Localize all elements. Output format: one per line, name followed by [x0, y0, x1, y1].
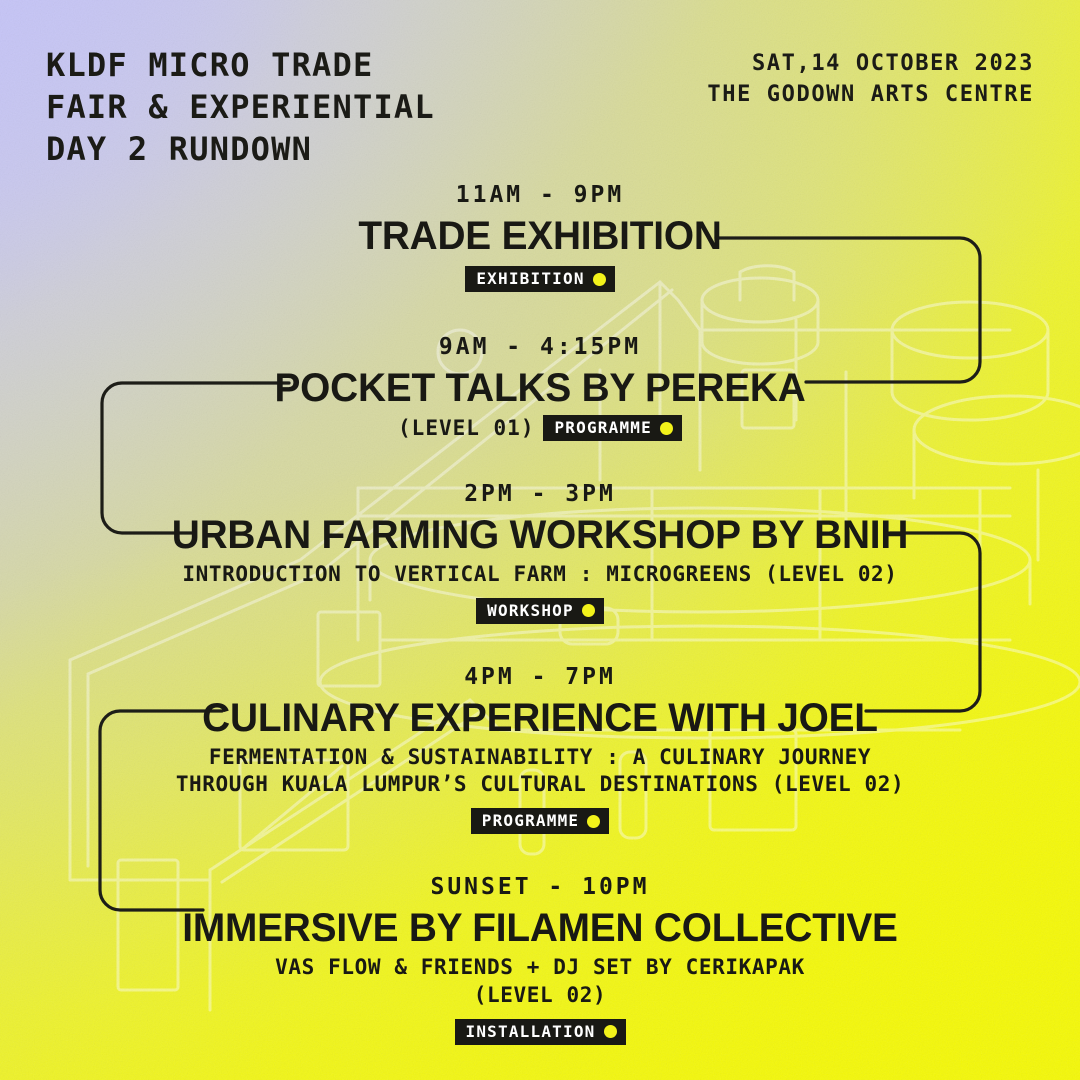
badge-dot-icon [587, 815, 600, 828]
event-title: URBAN FARMING WORKSHOP BY BNIH [16, 514, 1064, 556]
schedule-item-trade-exhibition: 11AM - 9PM TRADE EXHIBITION EXHIBITION [0, 182, 1080, 292]
schedule-item-urban-farming: 2PM - 3PM URBAN FARMING WORKSHOP BY BNIH… [0, 481, 1080, 624]
event-subtitle: VAS FLOW & FRIENDS + DJ SET BY CERIKAPAK… [0, 954, 1080, 1009]
badge-dot-icon [660, 422, 673, 435]
poster-header: KLDF MICRO TRADE FAIR & EXPERIENTIAL DAY… [0, 0, 1080, 171]
schedule-item-pocket-talks: 9AM - 4:15PM POCKET TALKS BY PEREKA (LEV… [0, 334, 1080, 441]
badge-label: WORKSHOP [487, 603, 574, 619]
poster-canvas: KLDF MICRO TRADE FAIR & EXPERIENTIAL DAY… [0, 0, 1080, 1080]
event-title: POCKET TALKS BY PEREKA [16, 367, 1064, 409]
badge-dot-icon [582, 604, 595, 617]
schedule-item-immersive: SUNSET - 10PM IMMERSIVE BY FILAMEN COLLE… [0, 874, 1080, 1044]
event-time: 9AM - 4:15PM [0, 334, 1080, 360]
event-title: CULINARY EXPERIENCE WITH JOEL [16, 697, 1064, 739]
event-date: SAT,14 OCTOBER 2023 [707, 48, 1034, 79]
event-time: 2PM - 3PM [0, 481, 1080, 507]
badge-dot-icon [604, 1025, 617, 1038]
event-meta: SAT,14 OCTOBER 2023 THE GODOWN ARTS CENT… [707, 44, 1034, 110]
event-level-note: (LEVEL 01) [398, 416, 534, 440]
badge-label: INSTALLATION [466, 1024, 596, 1040]
event-title: TRADE EXHIBITION [16, 215, 1064, 257]
schedule-item-culinary-experience: 4PM - 7PM CULINARY EXPERIENCE WITH JOEL … [0, 664, 1080, 834]
badge-dot-icon [593, 273, 606, 286]
status-badge-programme: PROGRAMME [471, 808, 610, 834]
event-subtitle: INTRODUCTION TO VERTICAL FARM : MICROGRE… [0, 561, 1080, 589]
event-time: 4PM - 7PM [0, 664, 1080, 690]
badge-label: PROGRAMME [482, 813, 580, 829]
event-venue: THE GODOWN ARTS CENTRE [707, 79, 1034, 110]
event-subtitle: FERMENTATION & SUSTAINABILITY : A CULINA… [0, 744, 1080, 799]
event-time: 11AM - 9PM [0, 182, 1080, 208]
event-title: IMMERSIVE BY FILAMEN COLLECTIVE [16, 907, 1064, 949]
status-badge-workshop: WORKSHOP [476, 598, 604, 624]
event-time: SUNSET - 10PM [0, 874, 1080, 900]
status-badge-programme: PROGRAMME [543, 415, 682, 441]
badge-label: EXHIBITION [476, 271, 584, 287]
status-badge-installation: INSTALLATION [455, 1019, 626, 1045]
status-badge-exhibition: EXHIBITION [465, 266, 614, 292]
badge-label: PROGRAMME [554, 420, 652, 436]
page-title: KLDF MICRO TRADE FAIR & EXPERIENTIAL DAY… [46, 44, 435, 171]
